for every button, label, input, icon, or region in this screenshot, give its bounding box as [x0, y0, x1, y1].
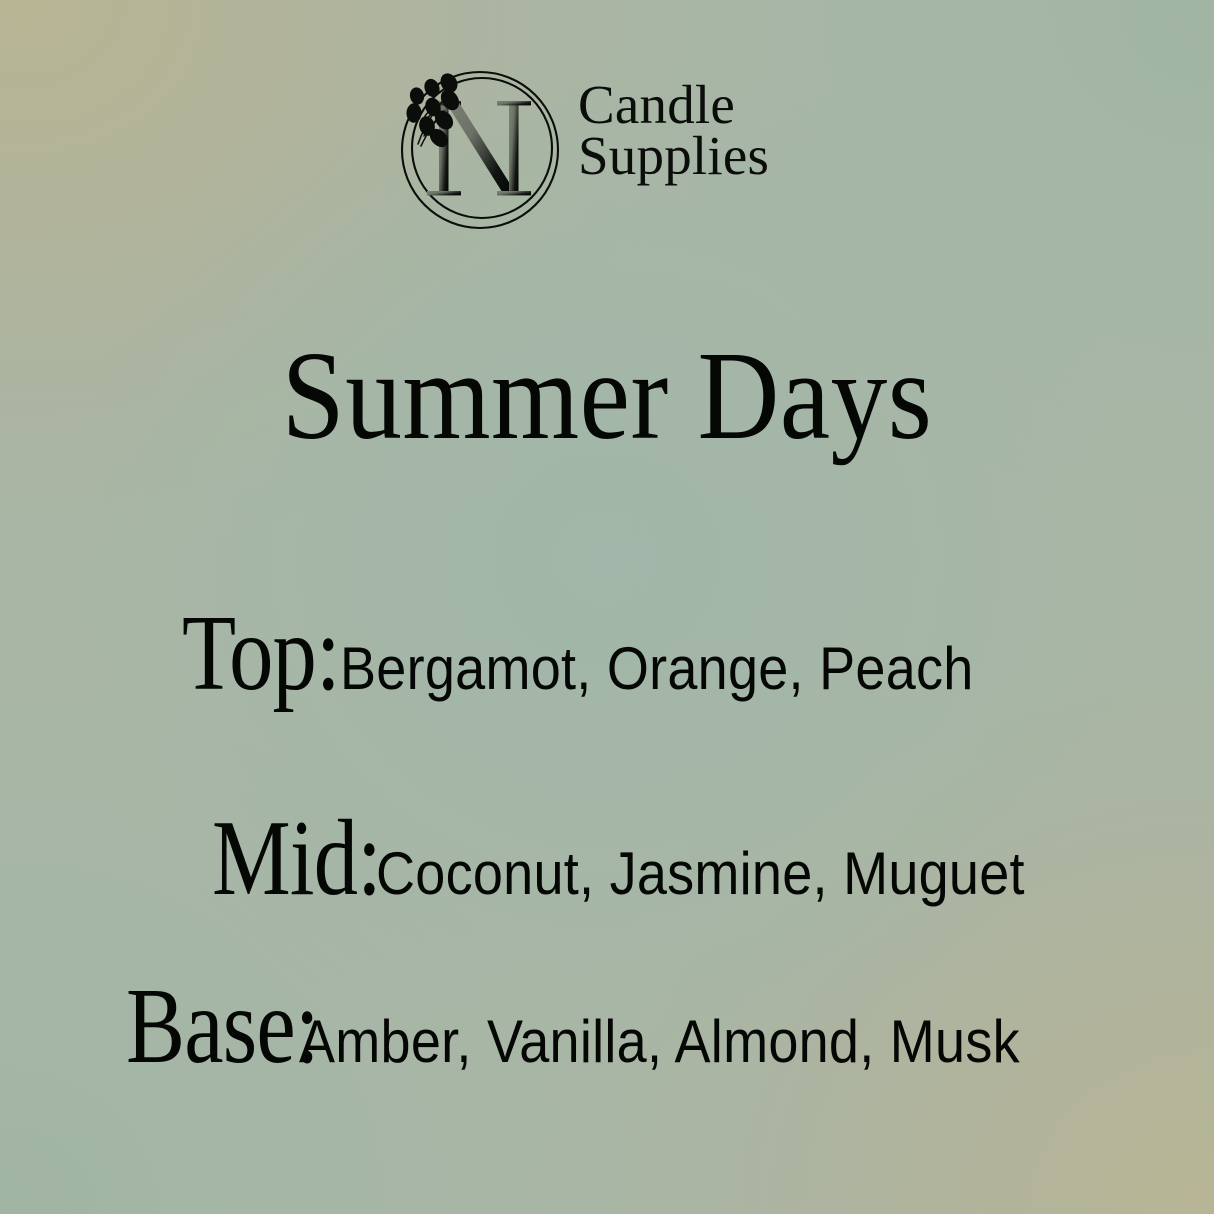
note-label-mid: Mid:	[212, 805, 381, 913]
fragrance-note-row-mid: Mid: Coconut, Jasmine, Muguet	[212, 805, 1097, 913]
scent-card: Candle Supplies Summer Days Top: Bergamo…	[0, 0, 1214, 1214]
note-label-base: Base:	[126, 973, 319, 1081]
brand-wordmark: Candle Supplies	[578, 80, 769, 181]
note-values-top: Bergamot, Orange, Peach	[340, 639, 974, 699]
fragrance-note-row-top: Top: Bergamot, Orange, Peach	[182, 600, 1044, 708]
fragrance-note-row-base: Base: Amber, Vanilla, Almond, Musk	[126, 973, 1100, 1081]
circle-monogram-icon	[392, 58, 572, 243]
note-values-mid: Coconut, Jasmine, Muguet	[376, 844, 1025, 904]
note-label-top: Top:	[182, 600, 340, 708]
brand-logo: Candle Supplies	[0, 0, 1214, 250]
brand-wordmark-line-1: Candle	[578, 80, 769, 131]
brand-wordmark-line-2: Supplies	[578, 131, 769, 182]
note-values-base: Amber, Vanilla, Almond, Musk	[299, 1012, 1020, 1072]
product-title: Summer Days	[61, 334, 1154, 460]
